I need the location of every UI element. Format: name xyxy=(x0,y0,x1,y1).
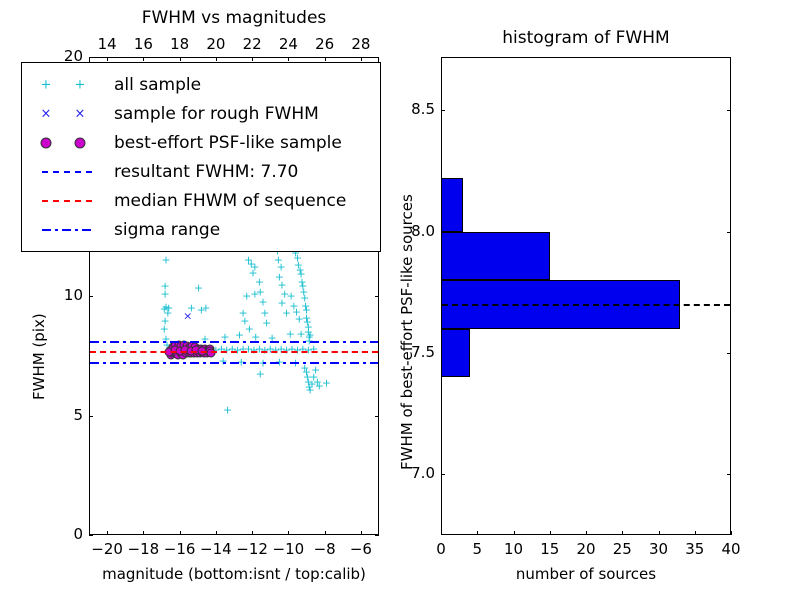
hist-x-tick-label: 20 xyxy=(570,540,602,558)
x-tick-bottom xyxy=(288,531,289,535)
legend: ++all sample××sample for rough FWHMbest-… xyxy=(21,62,381,252)
y-tick-right xyxy=(375,535,379,536)
y-tick-right xyxy=(375,416,379,417)
x-tick-label-top: 14 xyxy=(91,35,123,53)
legend-item: resultant FWHM: 7.70 xyxy=(28,157,374,186)
x-tick-top xyxy=(252,57,253,61)
plus-icon: + xyxy=(75,78,86,91)
x-tick-top xyxy=(288,57,289,61)
hist-y-tick-right xyxy=(727,474,731,475)
x-tick-label-bottom: −6 xyxy=(345,540,377,558)
legend-item: ++all sample xyxy=(28,70,374,99)
x-tick-bottom xyxy=(107,531,108,535)
x-tick-label-bottom: −12 xyxy=(236,540,268,558)
x-tick-label-bottom: −18 xyxy=(127,540,159,558)
right-panel-title: histogram of FWHM xyxy=(441,28,731,48)
legend-item: best-effort PSF-like sample xyxy=(28,128,374,157)
y-tick-right xyxy=(375,296,379,297)
y-tick-left xyxy=(89,296,93,297)
hist-x-tick-label: 15 xyxy=(534,540,566,558)
x-tick-bottom xyxy=(180,531,181,535)
legend-key xyxy=(28,191,114,211)
hist-x-tick xyxy=(695,531,696,535)
left-xaxis-label: magnitude (bottom:isnt / top:calib) xyxy=(89,565,379,583)
hist-reference-line xyxy=(442,304,730,306)
y-tick-left xyxy=(89,535,93,536)
left-yaxis-label: FWHM (pix) xyxy=(30,313,48,400)
legend-item: sigma range xyxy=(28,215,374,244)
legend-key xyxy=(28,220,114,240)
x-tick-label-top: 24 xyxy=(272,35,304,53)
legend-label: best-effort PSF-like sample xyxy=(114,133,342,153)
plus-icon: + xyxy=(41,78,52,91)
hist-y-tick xyxy=(441,110,445,111)
hist-y-tick xyxy=(441,474,445,475)
x-tick-bottom xyxy=(252,531,253,535)
x-tick-label-bottom: −16 xyxy=(164,540,196,558)
x-tick-bottom xyxy=(216,531,217,535)
hist-x-tick xyxy=(731,531,732,535)
x-tick-bottom xyxy=(325,531,326,535)
hist-x-tick xyxy=(586,531,587,535)
x-tick-label-top: 16 xyxy=(127,35,159,53)
legend-label: sample for rough FWHM xyxy=(114,104,319,124)
x-tick-label-top: 22 xyxy=(236,35,268,53)
legend-key: ×× xyxy=(28,104,114,124)
legend-item: median FHWM of sequence xyxy=(28,186,374,215)
y-tick-left xyxy=(89,57,93,58)
dashed-line-icon xyxy=(42,200,92,202)
figure-canvas: FWHM vs magnitudes −20−18−16−14−12−10−8−… xyxy=(0,0,800,600)
hist-y-tick-right xyxy=(727,353,731,354)
x-tick-label-bottom: −10 xyxy=(272,540,304,558)
y-tick-right xyxy=(375,57,379,58)
hist-x-tick-label: 30 xyxy=(643,540,675,558)
right-xaxis-label: number of sources xyxy=(441,565,731,583)
x-tick-top xyxy=(180,57,181,61)
y-tick-left xyxy=(89,416,93,417)
hist-x-tick xyxy=(514,531,515,535)
hist-x-tick-label: 25 xyxy=(606,540,638,558)
x-tick-label-bottom: −8 xyxy=(309,540,341,558)
histogram-bar xyxy=(441,329,470,378)
legend-label: sigma range xyxy=(114,220,220,240)
x-tick-bottom xyxy=(143,531,144,535)
cross-icon: × xyxy=(75,107,86,120)
legend-key xyxy=(28,133,114,153)
hist-y-tick-right xyxy=(727,110,731,111)
y-tick-label-left: 5 xyxy=(47,406,83,424)
hist-y-tick-label: 8.5 xyxy=(393,100,435,118)
hist-y-tick-right xyxy=(727,232,731,233)
legend-item: ××sample for rough FWHM xyxy=(28,99,374,128)
x-tick-top xyxy=(107,57,108,61)
x-tick-top xyxy=(361,57,362,61)
x-tick-label-bottom: −14 xyxy=(200,540,232,558)
y-tick-label-left: 10 xyxy=(47,286,83,304)
x-tick-top xyxy=(325,57,326,61)
legend-label: all sample xyxy=(114,75,201,95)
scatter-point-rough-sample: × xyxy=(183,311,192,322)
x-tick-label-top: 20 xyxy=(200,35,232,53)
hist-x-tick-label: 5 xyxy=(461,540,493,558)
x-tick-top xyxy=(216,57,217,61)
hist-x-tick-label: 10 xyxy=(498,540,530,558)
legend-label: median FHWM of sequence xyxy=(114,191,346,211)
reference-line-dashdot xyxy=(90,362,378,364)
right-yaxis-label: FWHM of best-effort PSF-like sources xyxy=(398,194,416,470)
hist-x-tick xyxy=(622,531,623,535)
left-panel-title: FWHM vs magnitudes xyxy=(89,8,379,28)
dashed-line-icon xyxy=(42,171,92,173)
x-tick-bottom xyxy=(361,531,362,535)
hist-x-tick xyxy=(441,531,442,535)
histogram-bar xyxy=(441,178,463,231)
legend-key: ++ xyxy=(28,75,114,95)
legend-label: resultant FWHM: 7.70 xyxy=(114,162,298,182)
circle-icon xyxy=(41,137,52,148)
hist-x-tick xyxy=(550,531,551,535)
legend-key xyxy=(28,162,114,182)
hist-x-tick-label: 0 xyxy=(425,540,457,558)
x-tick-label-bottom: −20 xyxy=(91,540,123,558)
x-tick-label-top: 28 xyxy=(345,35,377,53)
hist-x-tick-label: 40 xyxy=(715,540,747,558)
histogram-bar xyxy=(441,232,550,281)
hist-x-tick xyxy=(477,531,478,535)
x-tick-top xyxy=(143,57,144,61)
dashdot-line-icon xyxy=(42,229,92,231)
circle-icon xyxy=(75,137,86,148)
hist-x-tick xyxy=(659,531,660,535)
cross-icon: × xyxy=(41,107,52,120)
x-tick-label-top: 26 xyxy=(309,35,341,53)
reference-line-dashed xyxy=(90,351,378,353)
x-tick-label-top: 18 xyxy=(164,35,196,53)
y-tick-label-left: 0 xyxy=(47,525,83,543)
hist-x-tick-label: 35 xyxy=(679,540,711,558)
reference-line-dashdot xyxy=(90,341,378,343)
